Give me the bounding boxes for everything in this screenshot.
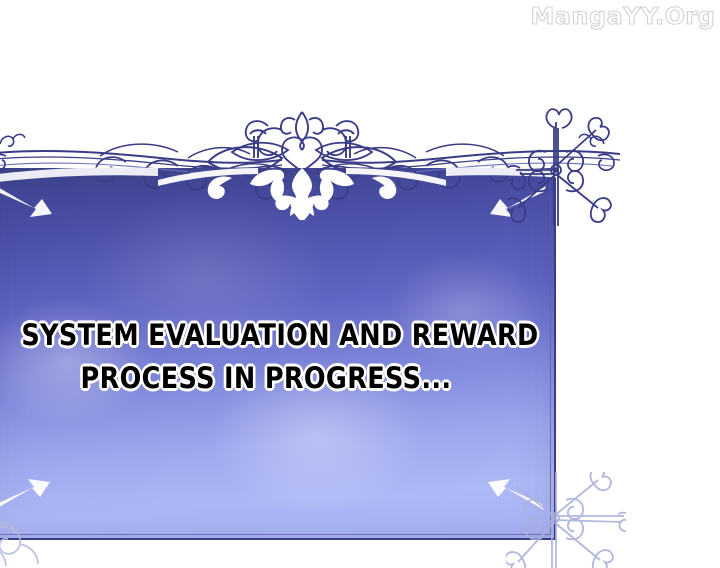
panel-caption: SYSTEM EVALUATION AND REWARD PROCESS IN … [21,314,510,400]
caption-line-1: SYSTEM EVALUATION AND REWARD [21,314,510,357]
site-watermark: MangaYY.Org [531,4,716,30]
comic-panel: SYSTEM EVALUATION AND REWARD PROCESS IN … [0,168,556,540]
caption-line-2: PROCESS IN PROGRESS... [21,357,510,400]
